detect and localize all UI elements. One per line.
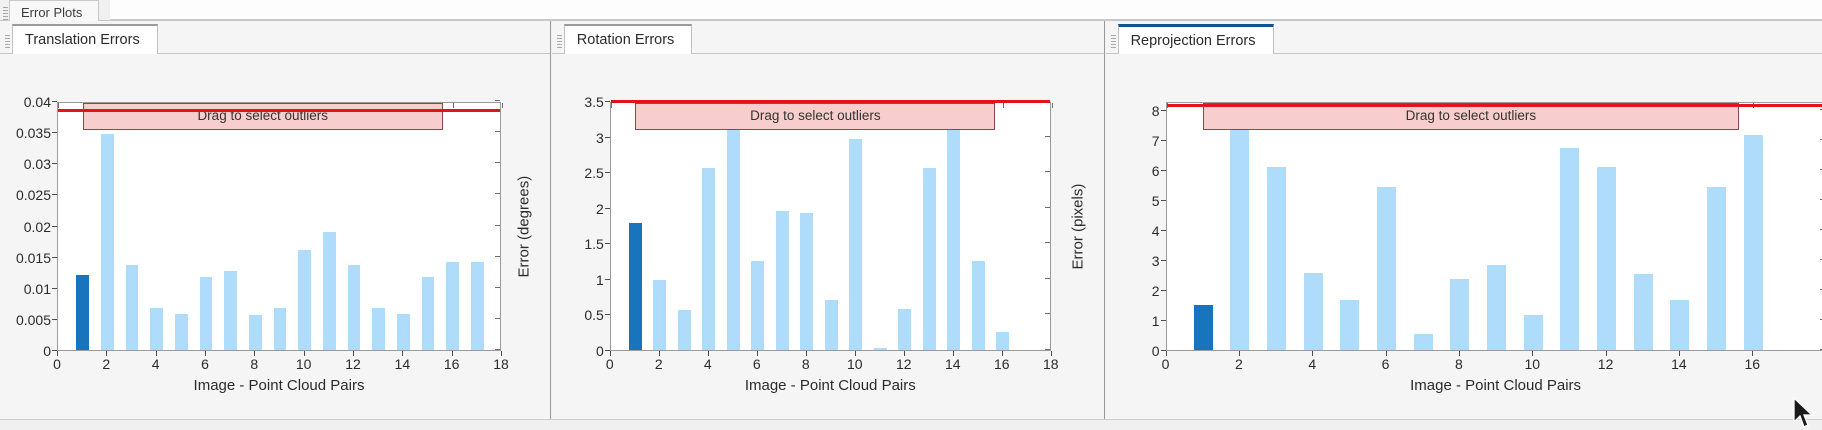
x-axis-tick-label: 6 — [753, 356, 761, 372]
bar[interactable] — [274, 308, 287, 350]
bar[interactable] — [678, 310, 691, 350]
plot-area[interactable]: Drag to select outliers — [57, 102, 501, 351]
x-axis-tick-label: 12 — [345, 356, 361, 372]
bar[interactable] — [776, 211, 789, 350]
y-axis-tick — [1161, 260, 1166, 261]
y-axis-tick — [52, 163, 57, 164]
bar[interactable] — [422, 277, 435, 350]
bar[interactable] — [1670, 300, 1689, 350]
y-axis-tick — [605, 208, 610, 209]
x-axis-tick-label: 18 — [493, 356, 509, 372]
drag-grip-icon[interactable] — [1111, 35, 1116, 48]
y-axis-tick — [1161, 110, 1166, 111]
x-axis-tick-label: 16 — [444, 356, 460, 372]
bar[interactable] — [150, 308, 163, 350]
drag-grip-icon[interactable] — [3, 7, 8, 20]
y-axis-tick-label: 1 — [596, 272, 604, 288]
bar[interactable] — [800, 213, 813, 350]
bar[interactable] — [397, 314, 410, 350]
document-tab-error-plots[interactable]: Error Plots — [9, 0, 99, 21]
bar[interactable] — [471, 262, 484, 350]
y-axis-tick-label: 5 — [1152, 193, 1160, 209]
y-axis-tick-label: 3.5 — [584, 94, 603, 110]
bar[interactable] — [323, 232, 336, 350]
x-axis-tick-label: 18 — [1043, 356, 1059, 372]
y-axis-tick — [605, 172, 610, 173]
outlier-threshold-line[interactable] — [58, 109, 500, 112]
y-axis-tick-label: 1 — [1152, 313, 1160, 329]
bar[interactable] — [224, 271, 237, 350]
tab-reprojection-errors[interactable]: Reprojection Errors — [1118, 24, 1274, 54]
y-axis-tick — [1161, 170, 1166, 171]
bottom-status-strip — [0, 419, 1822, 430]
bar[interactable] — [996, 332, 1009, 350]
y-axis-tick — [52, 101, 57, 102]
bar[interactable] — [849, 139, 862, 350]
right-axis-tick — [495, 100, 500, 101]
y-axis-tick-label: 2.5 — [584, 165, 603, 181]
y-axis-tick — [605, 279, 610, 280]
bar-series — [1167, 103, 1822, 350]
y-axis-tick-label: 6 — [1152, 163, 1160, 179]
chart-reprojection-errors: Drag to select outliers012345678Error (p… — [1106, 54, 1822, 418]
y-axis-tick-label: 0.01 — [24, 281, 51, 297]
outlier-slider-band[interactable]: Drag to select outliers — [1203, 103, 1738, 130]
bar-selected[interactable] — [76, 275, 89, 350]
y-axis-tick-label: 0.005 — [16, 312, 51, 328]
error-plots-window: Error Plots Translation Errors Drag to s… — [0, 0, 1822, 430]
outlier-slider-band[interactable]: Drag to select outliers — [635, 103, 995, 130]
bar[interactable] — [298, 250, 311, 350]
bar[interactable] — [874, 348, 887, 350]
y-axis-title: Error (degrees) — [515, 175, 532, 277]
bar[interactable] — [825, 300, 838, 351]
bar[interactable] — [446, 262, 459, 350]
y-axis-tick-label: 3 — [1152, 253, 1160, 269]
panel-tab-strip-1: Translation Errors — [0, 21, 550, 54]
x-axis-tick-label: 0 — [1162, 356, 1170, 372]
x-axis-tick-label: 12 — [1598, 356, 1614, 372]
bar[interactable] — [200, 277, 213, 350]
y-axis-tick-label: 0.015 — [16, 250, 51, 266]
x-axis-tick-label: 6 — [1382, 356, 1390, 372]
bar[interactable] — [101, 134, 114, 350]
bar[interactable] — [972, 261, 985, 350]
tab-rotation-errors[interactable]: Rotation Errors — [564, 24, 693, 54]
y-axis-tick-label: 0 — [1152, 343, 1160, 359]
plot-area[interactable]: Drag to select outliers — [610, 102, 1051, 351]
x-axis-title: Image - Point Cloud Pairs — [57, 377, 501, 394]
y-axis-tick-label: 4 — [1152, 223, 1160, 239]
bar[interactable] — [1304, 273, 1323, 350]
bar[interactable] — [947, 120, 960, 350]
bar[interactable] — [1560, 148, 1579, 350]
x-axis-tick-label: 8 — [1455, 356, 1463, 372]
axes-area-2: Drag to select outliers00.511.522.533.5E… — [610, 102, 1051, 351]
y-axis-tick-label: 0.025 — [16, 187, 51, 203]
bar[interactable] — [249, 315, 262, 350]
x-axis-tick-label: 6 — [201, 356, 209, 372]
y-axis-tick-label: 0.5 — [584, 307, 603, 323]
panel-tab-strip-2: Rotation Errors — [552, 21, 1104, 54]
document-tab-strip-filler — [110, 0, 1822, 20]
y-axis-tick — [52, 319, 57, 320]
bar[interactable] — [372, 308, 385, 350]
outlier-threshold-line[interactable] — [611, 100, 1050, 103]
y-axis-tick — [1161, 140, 1166, 141]
bar[interactable] — [1524, 315, 1543, 350]
x-axis-tick-label: 14 — [1671, 356, 1687, 372]
bar[interactable] — [702, 168, 715, 350]
panel-rotation-errors: Rotation Errors Drag to select outliers0… — [552, 21, 1104, 430]
y-axis-tick-label: 3 — [596, 130, 604, 146]
chart-translation-errors: Drag to select outliers00.0050.010.0150.… — [0, 54, 550, 418]
bar[interactable] — [126, 265, 139, 350]
bar[interactable] — [653, 280, 666, 350]
y-axis-tick-label: 0.03 — [24, 156, 51, 172]
bar[interactable] — [1267, 167, 1286, 350]
axes-area-1: Drag to select outliers00.0050.010.0150.… — [57, 102, 501, 351]
bar[interactable] — [1340, 300, 1359, 350]
y-axis-tick-label: 0.02 — [24, 219, 51, 235]
tab-translation-errors[interactable]: Translation Errors — [12, 24, 158, 54]
y-axis-tick-label: 0 — [596, 343, 604, 359]
bar-selected[interactable] — [1194, 305, 1213, 350]
bar[interactable] — [898, 309, 911, 350]
x-axis-tick-label: 10 — [847, 356, 863, 372]
x-axis-tick-label: 16 — [994, 356, 1010, 372]
bar[interactable] — [1414, 334, 1433, 350]
panel-reprojection-errors: Reprojection Errors Drag to select outli… — [1106, 21, 1822, 430]
tab-label: Translation Errors — [25, 32, 140, 48]
x-axis-tick-label: 8 — [250, 356, 258, 372]
bar[interactable] — [348, 265, 361, 350]
x-axis-tick-label: 2 — [102, 356, 110, 372]
bar[interactable] — [1707, 187, 1726, 350]
x-axis-title: Image - Point Cloud Pairs — [610, 377, 1051, 394]
plot-area[interactable]: Drag to select outliers — [1166, 102, 1822, 351]
x-axis-tick-label: 10 — [296, 356, 312, 372]
axes-area-3: Drag to select outliers012345678Error (p… — [1166, 102, 1822, 351]
x-axis-tick-label: 16 — [1744, 356, 1760, 372]
bar[interactable] — [1377, 187, 1396, 350]
y-axis-tick-label: 7 — [1152, 133, 1160, 149]
outlier-threshold-line[interactable] — [1167, 104, 1822, 107]
bar[interactable] — [923, 168, 936, 350]
y-axis-tick — [1161, 290, 1166, 291]
x-axis-tick-label: 14 — [395, 356, 411, 372]
y-axis-tick — [1161, 320, 1166, 321]
y-axis-tick-label: 0 — [43, 343, 51, 359]
panels-container: Translation Errors Drag to select outlie… — [0, 21, 1822, 430]
outlier-slider-band[interactable]: Drag to select outliers — [83, 103, 443, 130]
x-axis-tick-label: 0 — [53, 356, 61, 372]
outlier-slider-label: Drag to select outliers — [1204, 108, 1737, 123]
y-axis-tick — [52, 132, 57, 133]
x-axis-tick-label: 4 — [704, 356, 712, 372]
y-axis-tick — [605, 243, 610, 244]
bar[interactable] — [1450, 279, 1469, 350]
y-axis-tick-label: 2 — [1152, 283, 1160, 299]
panel-tab-strip-3: Reprojection Errors — [1106, 21, 1822, 54]
y-axis-tick — [1161, 230, 1166, 231]
bar[interactable] — [1487, 265, 1506, 351]
y-axis-title: Error (pixels) — [1069, 183, 1086, 269]
bar[interactable] — [1634, 274, 1653, 350]
top-axis-tick — [502, 103, 503, 108]
document-tab-strip: Error Plots — [0, 0, 1822, 21]
bar[interactable] — [727, 120, 740, 350]
bar[interactable] — [1597, 167, 1616, 350]
tab-label: Rotation Errors — [577, 32, 675, 48]
y-axis-tick — [52, 226, 57, 227]
y-axis-tick-label: 0.04 — [24, 94, 51, 110]
bar[interactable] — [1230, 129, 1249, 350]
drag-grip-icon[interactable] — [557, 35, 562, 48]
x-axis-tick-label: 10 — [1524, 356, 1540, 372]
x-axis-tick-label: 14 — [945, 356, 961, 372]
y-axis-tick-label: 1.5 — [584, 236, 603, 252]
x-axis-tick-label: 4 — [1308, 356, 1316, 372]
chart-rotation-errors: Drag to select outliers00.511.522.533.5E… — [552, 54, 1104, 418]
y-axis-tick — [52, 194, 57, 195]
y-axis-tick — [605, 101, 610, 102]
bar-series — [611, 103, 1050, 350]
y-axis-tick — [52, 288, 57, 289]
y-axis-tick — [605, 137, 610, 138]
y-axis-tick — [52, 257, 57, 258]
outlier-slider-label: Drag to select outliers — [636, 108, 994, 123]
y-axis-tick — [1161, 200, 1166, 201]
bar-series — [58, 103, 500, 350]
mouse-cursor-icon — [1790, 396, 1816, 430]
x-axis-tick-label: 2 — [1235, 356, 1243, 372]
x-axis-tick-label: 4 — [152, 356, 160, 372]
document-tab-label: Error Plots — [21, 5, 82, 20]
bar[interactable] — [175, 314, 188, 350]
x-axis-tick-label: 2 — [655, 356, 663, 372]
top-axis-tick — [1052, 103, 1053, 108]
y-axis-tick-label: 2 — [596, 201, 604, 217]
bar-selected[interactable] — [629, 223, 642, 350]
panel-translation-errors: Translation Errors Drag to select outlie… — [0, 21, 550, 430]
x-axis-tick-label: 12 — [896, 356, 912, 372]
y-axis-tick — [605, 314, 610, 315]
x-axis-title: Image - Point Cloud Pairs — [1166, 377, 1822, 394]
x-axis-tick-label: 8 — [802, 356, 810, 372]
x-axis-tick-label: 0 — [606, 356, 614, 372]
y-axis-tick-label: 8 — [1152, 103, 1160, 119]
tab-label: Reprojection Errors — [1131, 33, 1256, 49]
drag-grip-icon[interactable] — [5, 35, 10, 48]
bar[interactable] — [1744, 135, 1763, 350]
y-axis-tick-label: 0.035 — [16, 125, 51, 141]
bar[interactable] — [751, 261, 764, 350]
